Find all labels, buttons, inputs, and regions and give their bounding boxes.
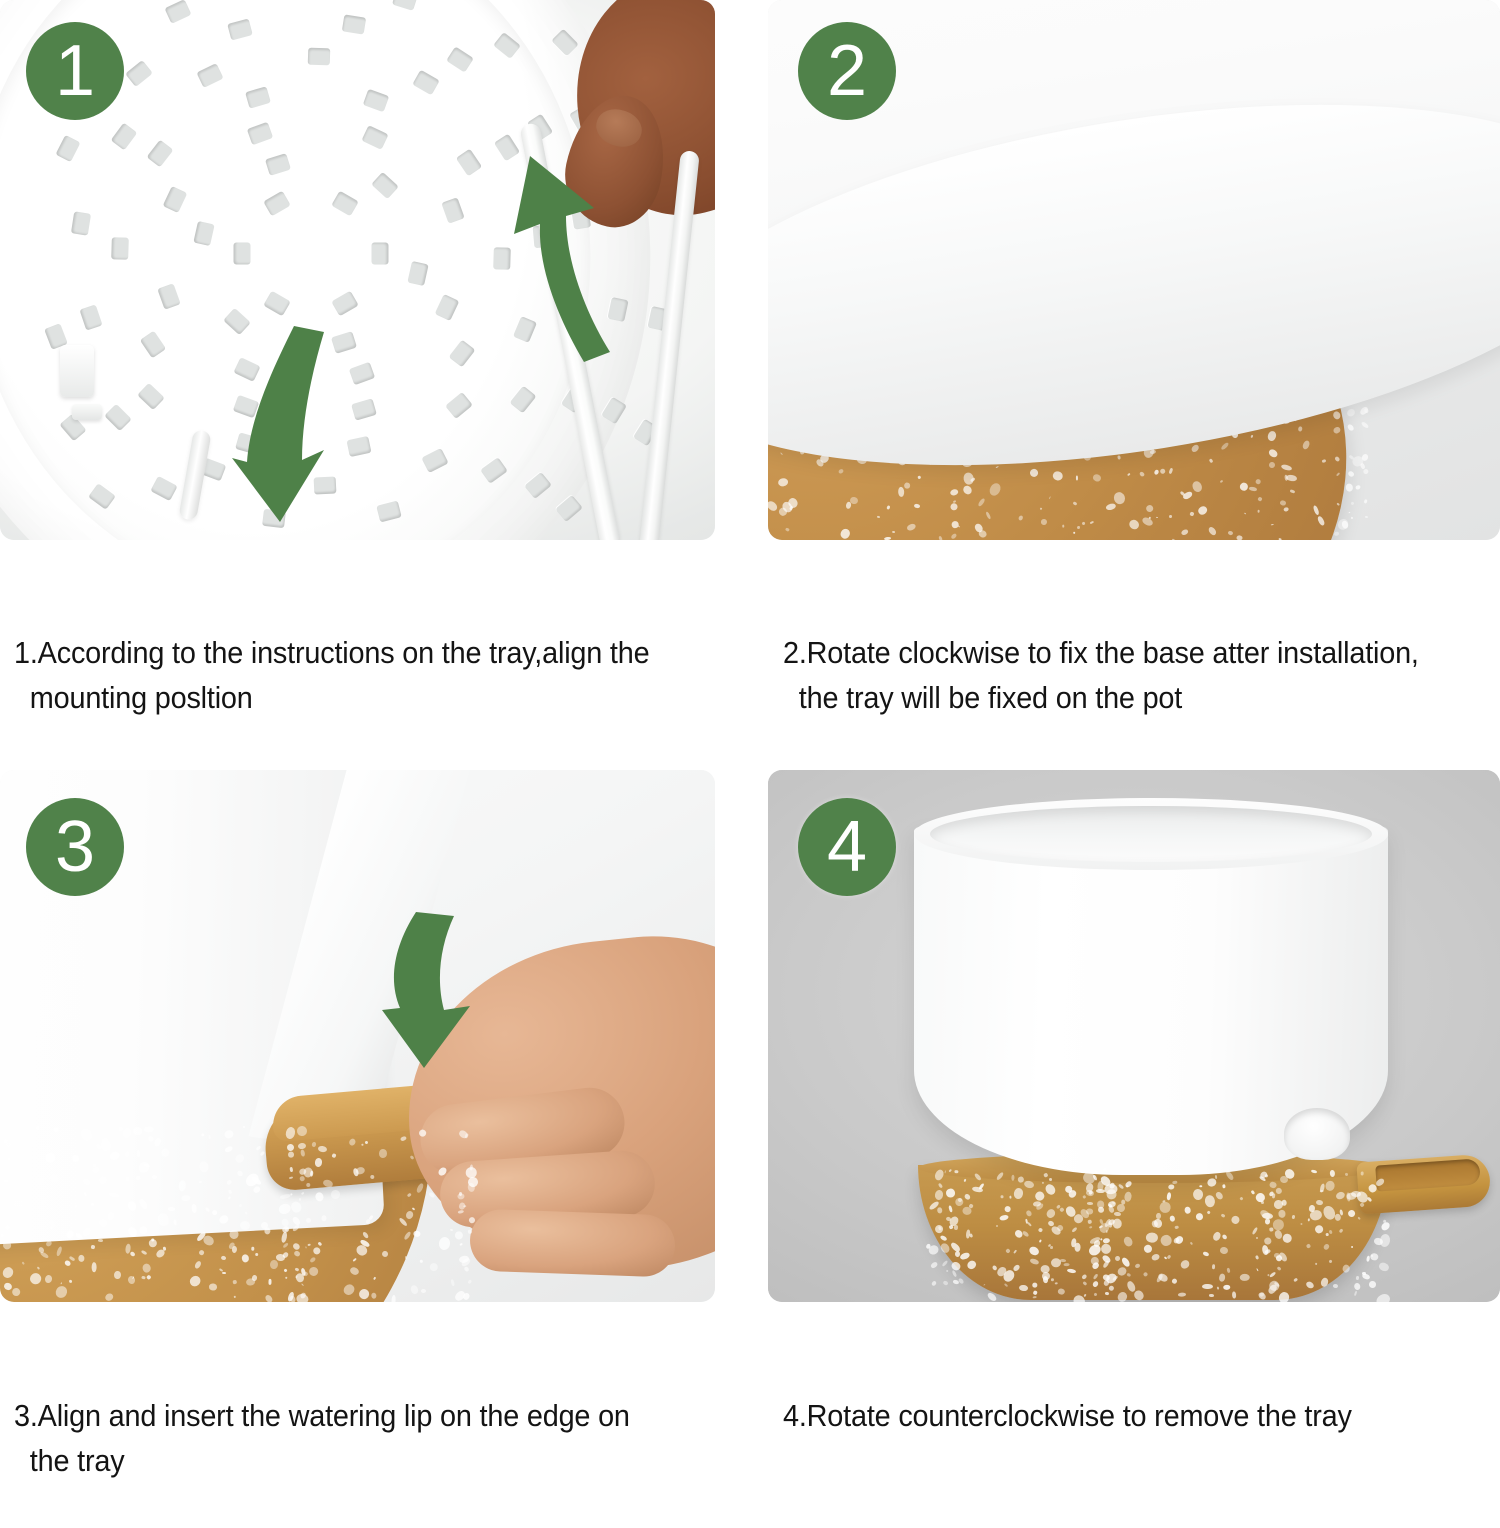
step-1-number: 1: [55, 30, 95, 112]
step-2-caption: 2.Rotate clockwise to fix the base atter…: [783, 585, 1462, 765]
step-3-number: 3: [55, 806, 95, 888]
brown-speckled-tray-base: [918, 1165, 1388, 1300]
step-3-caption-line1: 3.Align and insert the watering lip on t…: [14, 1398, 630, 1433]
step-2-caption-line1: 2.Rotate clockwise to fix the base atter…: [783, 635, 1419, 670]
step-1-caption-line2: mounting posltion: [14, 675, 693, 720]
step-4-caption: 4.Rotate counterclockwise to remove the …: [783, 1348, 1462, 1438]
step-3-badge: 3: [26, 798, 124, 896]
step-1-caption-line1: 1.According to the instructions on the t…: [14, 635, 649, 670]
step-1-image-panel: 1: [0, 0, 715, 540]
step-2-badge: 2: [798, 22, 896, 120]
step-4-number: 4: [827, 806, 867, 888]
step-4-image-panel: 4: [768, 770, 1500, 1302]
finger-ring: [469, 1208, 676, 1277]
instruction-sheet: 1 2: [0, 0, 1500, 1441]
step-1-badge: 1: [26, 22, 124, 120]
step-1-caption: 1.According to the instructions on the t…: [14, 585, 693, 765]
pot-watering-notch: [1284, 1108, 1350, 1160]
tray-latch-tab-secondary: [72, 404, 102, 420]
step-2-image-panel: 2: [768, 0, 1500, 540]
step-3-caption-line2: the tray: [14, 1438, 693, 1483]
step-3-caption: 3.Align and insert the watering lip on t…: [14, 1348, 693, 1528]
tray-latch-tab: [60, 345, 94, 397]
step-4-badge: 4: [798, 798, 896, 896]
step-2-number: 2: [827, 30, 867, 112]
step-2-caption-line2: the tray will be fixed on the pot: [783, 675, 1462, 720]
step-4-caption-line1: 4.Rotate counterclockwise to remove the …: [783, 1398, 1352, 1433]
white-pot-rim-inner: [930, 806, 1372, 862]
step-3-image-panel: 3: [0, 770, 715, 1302]
